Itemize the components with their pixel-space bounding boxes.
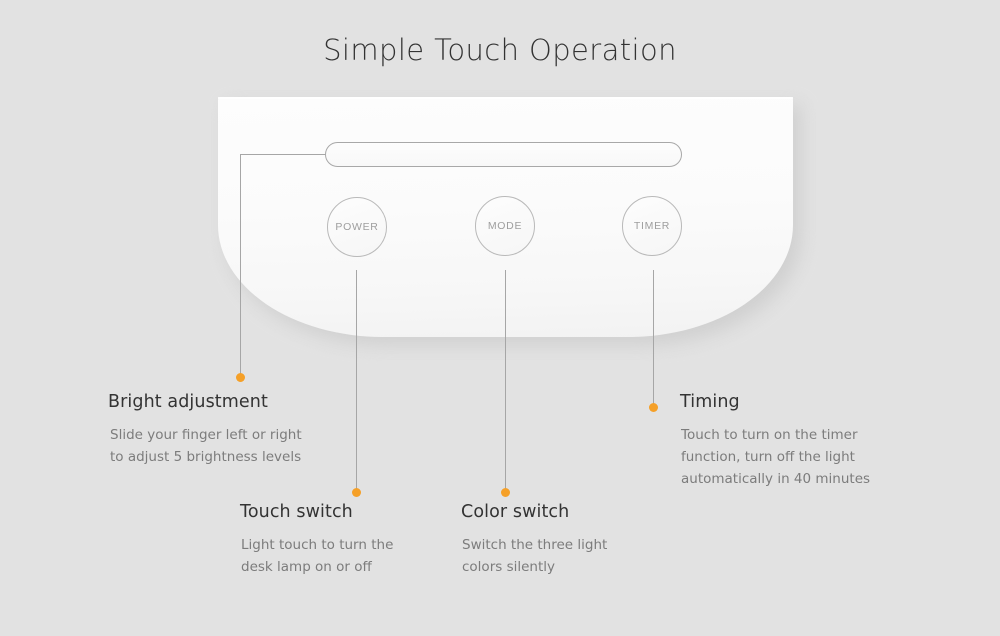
leader-line-mode (505, 270, 506, 492)
callout-color-switch-heading: Color switch (461, 502, 661, 522)
callout-touch-switch-heading: Touch switch (240, 502, 440, 522)
timer-button[interactable]: TIMER (622, 196, 682, 256)
callout-body-line: function, turn off the light (681, 446, 880, 468)
timer-button-label: TIMER (634, 220, 670, 232)
leader-line-timer (653, 270, 654, 407)
callout-color-switch-body: Switch the three light colors silently (462, 534, 661, 578)
callout-dot-bright-adjustment (236, 373, 245, 382)
callout-body-line: colors silently (462, 556, 661, 578)
callout-dot-touch-switch (352, 488, 361, 497)
mode-button-label: MODE (488, 220, 522, 232)
callout-body-line: to adjust 5 brightness levels (110, 446, 318, 468)
power-button-label: POWER (335, 221, 378, 233)
callout-bright-adjustment-body: Slide your finger left or right to adjus… (110, 424, 318, 468)
mode-button[interactable]: MODE (475, 196, 535, 256)
lamp-base-top-edge (218, 97, 793, 99)
page-title: Simple Touch Operation (0, 33, 1000, 67)
leader-line-power (356, 270, 357, 492)
callout-dot-timing (649, 403, 658, 412)
callout-bright-adjustment: Bright adjustment Slide your finger left… (108, 392, 318, 468)
callout-color-switch: Color switch Switch the three light colo… (461, 502, 661, 578)
power-button[interactable]: POWER (327, 197, 387, 257)
brightness-slider-track[interactable] (325, 142, 682, 167)
callout-timing-heading: Timing (680, 392, 880, 412)
callout-body-line: Touch to turn on the timer (681, 424, 880, 446)
leader-line-bright-vertical (240, 154, 241, 374)
infographic-canvas: Simple Touch Operation POWER MODE TIMER (0, 0, 1000, 636)
leader-line-bright-horizontal (240, 154, 326, 155)
callout-body-line: Switch the three light (462, 534, 661, 556)
callout-bright-adjustment-heading: Bright adjustment (108, 392, 318, 412)
callout-body-line: automatically in 40 minutes (681, 468, 880, 490)
callout-touch-switch-body: Light touch to turn the desk lamp on or … (241, 534, 440, 578)
callout-body-line: Slide your finger left or right (110, 424, 318, 446)
callout-body-line: desk lamp on or off (241, 556, 440, 578)
callout-timing: Timing Touch to turn on the timer functi… (680, 392, 880, 490)
callout-body-line: Light touch to turn the (241, 534, 440, 556)
callout-dot-color-switch (501, 488, 510, 497)
callout-timing-body: Touch to turn on the timer function, tur… (681, 424, 880, 490)
callout-touch-switch: Touch switch Light touch to turn the des… (240, 502, 440, 578)
